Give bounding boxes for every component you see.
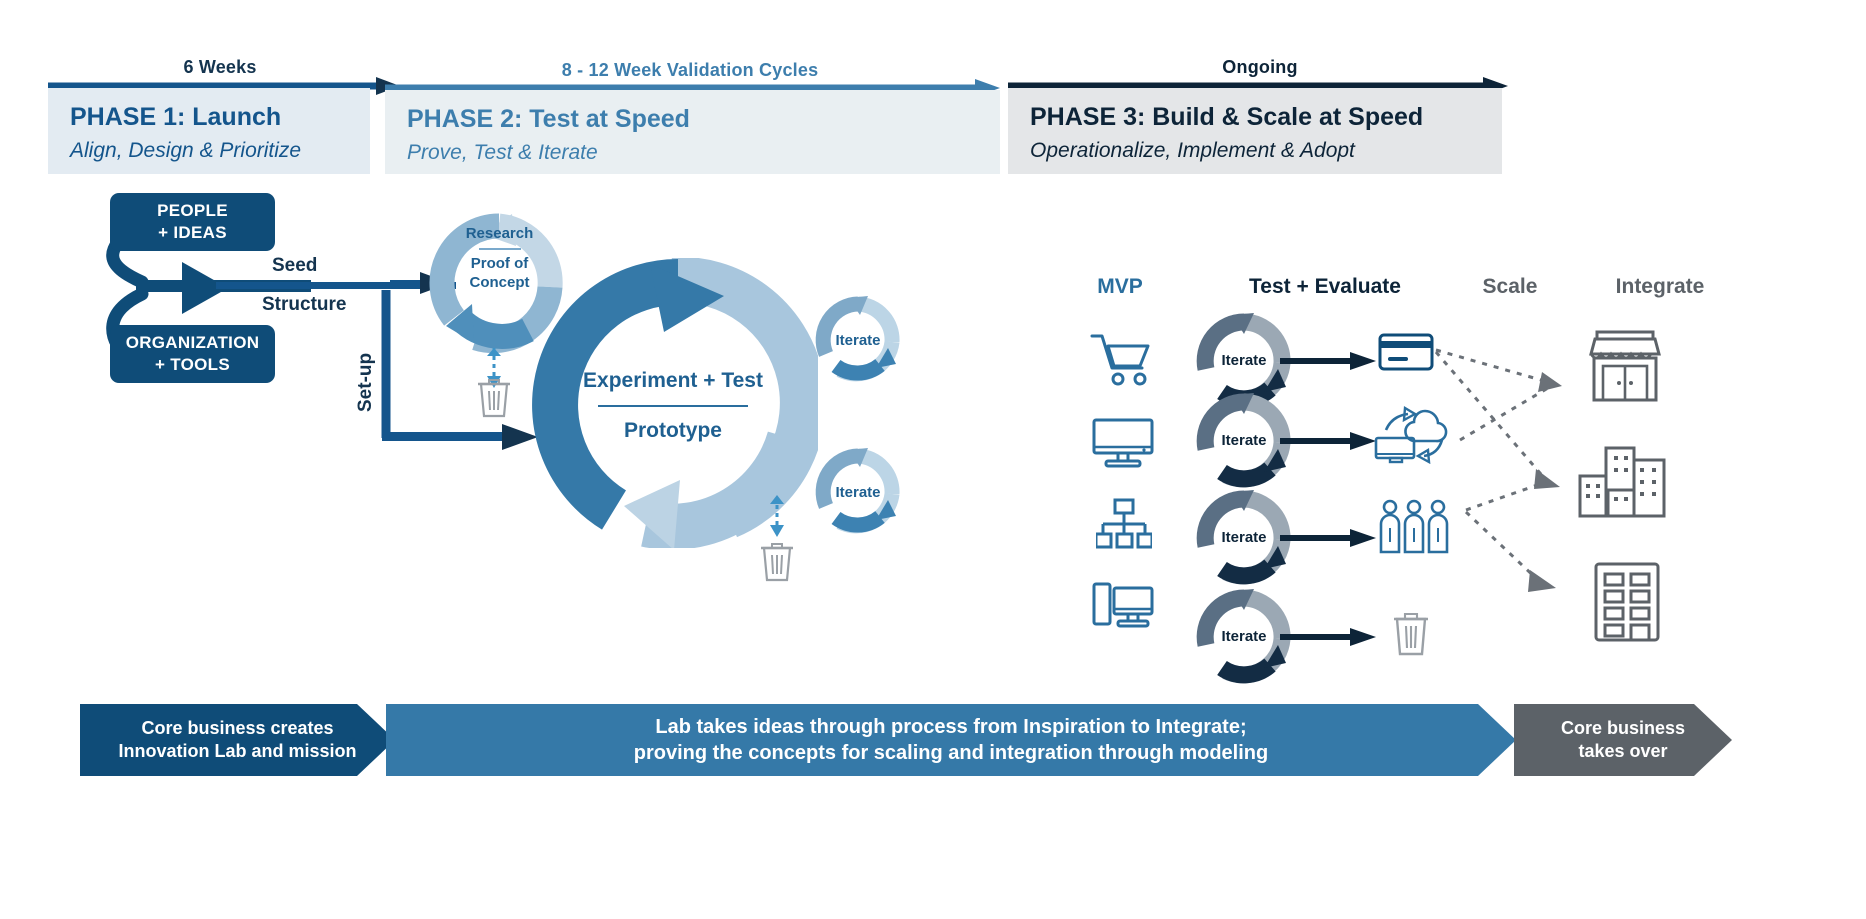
banner-core-business-creates: Core business creates Innovation Lab and… <box>80 704 395 776</box>
organization-tools-line2: + TOOLS <box>126 354 260 376</box>
iterate-label-dark-1: Iterate <box>1200 352 1288 369</box>
test-evaluate-arrow-4 <box>1280 626 1376 648</box>
iterate-label-dark-2: Iterate <box>1200 432 1288 449</box>
organization-tools-box[interactable]: ORGANIZATION + TOOLS <box>110 325 275 383</box>
phase-1-title: PHASE 1: Launch <box>70 102 348 132</box>
phase-1-band: PHASE 1: Launch Align, Design & Prioriti… <box>48 88 370 174</box>
phase-1-duration: 6 Weeks <box>48 57 392 78</box>
iterate-label-light-1: Iterate <box>818 332 898 349</box>
test-evaluate-arrow-2 <box>1280 430 1376 452</box>
people-ideas-line1: PEOPLE <box>157 200 228 222</box>
phase-2-subtitle: Prove, Test & Iterate <box>407 140 978 166</box>
experiment-prototype-text: Experiment + Test Prototype <box>583 368 763 443</box>
phase-3-subtitle: Operationalize, Implement & Adopt <box>1030 138 1480 164</box>
prototype-discard-connector <box>765 495 789 537</box>
banner-2-line2: proving the concepts for scaling and int… <box>634 740 1268 766</box>
banner-lab-takes-ideas: Lab takes ideas through process from Ins… <box>386 704 1516 776</box>
trash-icon-prototype <box>760 538 794 582</box>
phase-1-subtitle: Align, Design & Prioritize <box>70 138 348 164</box>
organization-tools-line1: ORGANIZATION <box>126 332 260 354</box>
city-buildings-icon <box>1578 440 1666 518</box>
poc-line1: Research <box>452 225 547 243</box>
test-evaluate-arrow-3 <box>1280 527 1376 549</box>
shopping-cart-icon <box>1090 330 1152 388</box>
phase-3-title: PHASE 3: Build & Scale at Speed <box>1030 102 1480 132</box>
banner-2-line1: Lab takes ideas through process from Ins… <box>634 714 1268 740</box>
seed-label: Seed <box>272 255 317 277</box>
office-building-icon <box>1592 562 1662 642</box>
test-evaluate-arrow-1 <box>1280 350 1376 372</box>
iterate-label-dark-3: Iterate <box>1200 529 1288 546</box>
credit-card-icon <box>1378 333 1434 373</box>
people-ideas-line2: + IDEAS <box>157 222 228 244</box>
banner-3-line1: Core business <box>1561 717 1685 740</box>
structure-label: Structure <box>262 294 346 316</box>
poc-divider <box>479 248 521 250</box>
org-chart-icon <box>1096 498 1152 550</box>
banner-3-line2: takes over <box>1561 740 1685 763</box>
cycle-line1: Experiment + Test <box>583 368 763 394</box>
banner-1-line2: Innovation Lab and mission <box>118 740 356 763</box>
phase-2-title: PHASE 2: Test at Speed <box>407 104 978 134</box>
iterate-label-dark-4: Iterate <box>1200 628 1288 645</box>
phase-2-band: PHASE 2: Test at Speed Prove, Test & Ite… <box>385 90 1000 174</box>
phase-3-duration: Ongoing <box>1010 57 1510 78</box>
storefront-icon <box>1585 330 1665 402</box>
devices-icon <box>1092 580 1154 632</box>
people-ideas-box[interactable]: PEOPLE + IDEAS <box>110 193 275 251</box>
trash-icon-outcome <box>1392 608 1430 656</box>
phase-3-band: PHASE 3: Build & Scale at Speed Operatio… <box>1008 88 1502 174</box>
cycle-divider <box>598 405 748 407</box>
trash-icon-poc <box>477 374 511 418</box>
banner-1-line1: Core business creates <box>118 717 356 740</box>
iterate-label-light-2: Iterate <box>818 484 898 501</box>
scale-dotted-connectors <box>1430 330 1570 630</box>
cycle-line2: Prototype <box>583 418 763 444</box>
setup-label: Set-up <box>355 353 377 412</box>
column-heading-integrate: Integrate <box>1555 275 1765 299</box>
desktop-monitor-icon <box>1092 418 1154 468</box>
diagram-canvas: 6 Weeks PHASE 1: Launch Align, Design & … <box>0 0 1866 919</box>
banner-core-business-takes-over: Core business takes over <box>1514 704 1732 776</box>
